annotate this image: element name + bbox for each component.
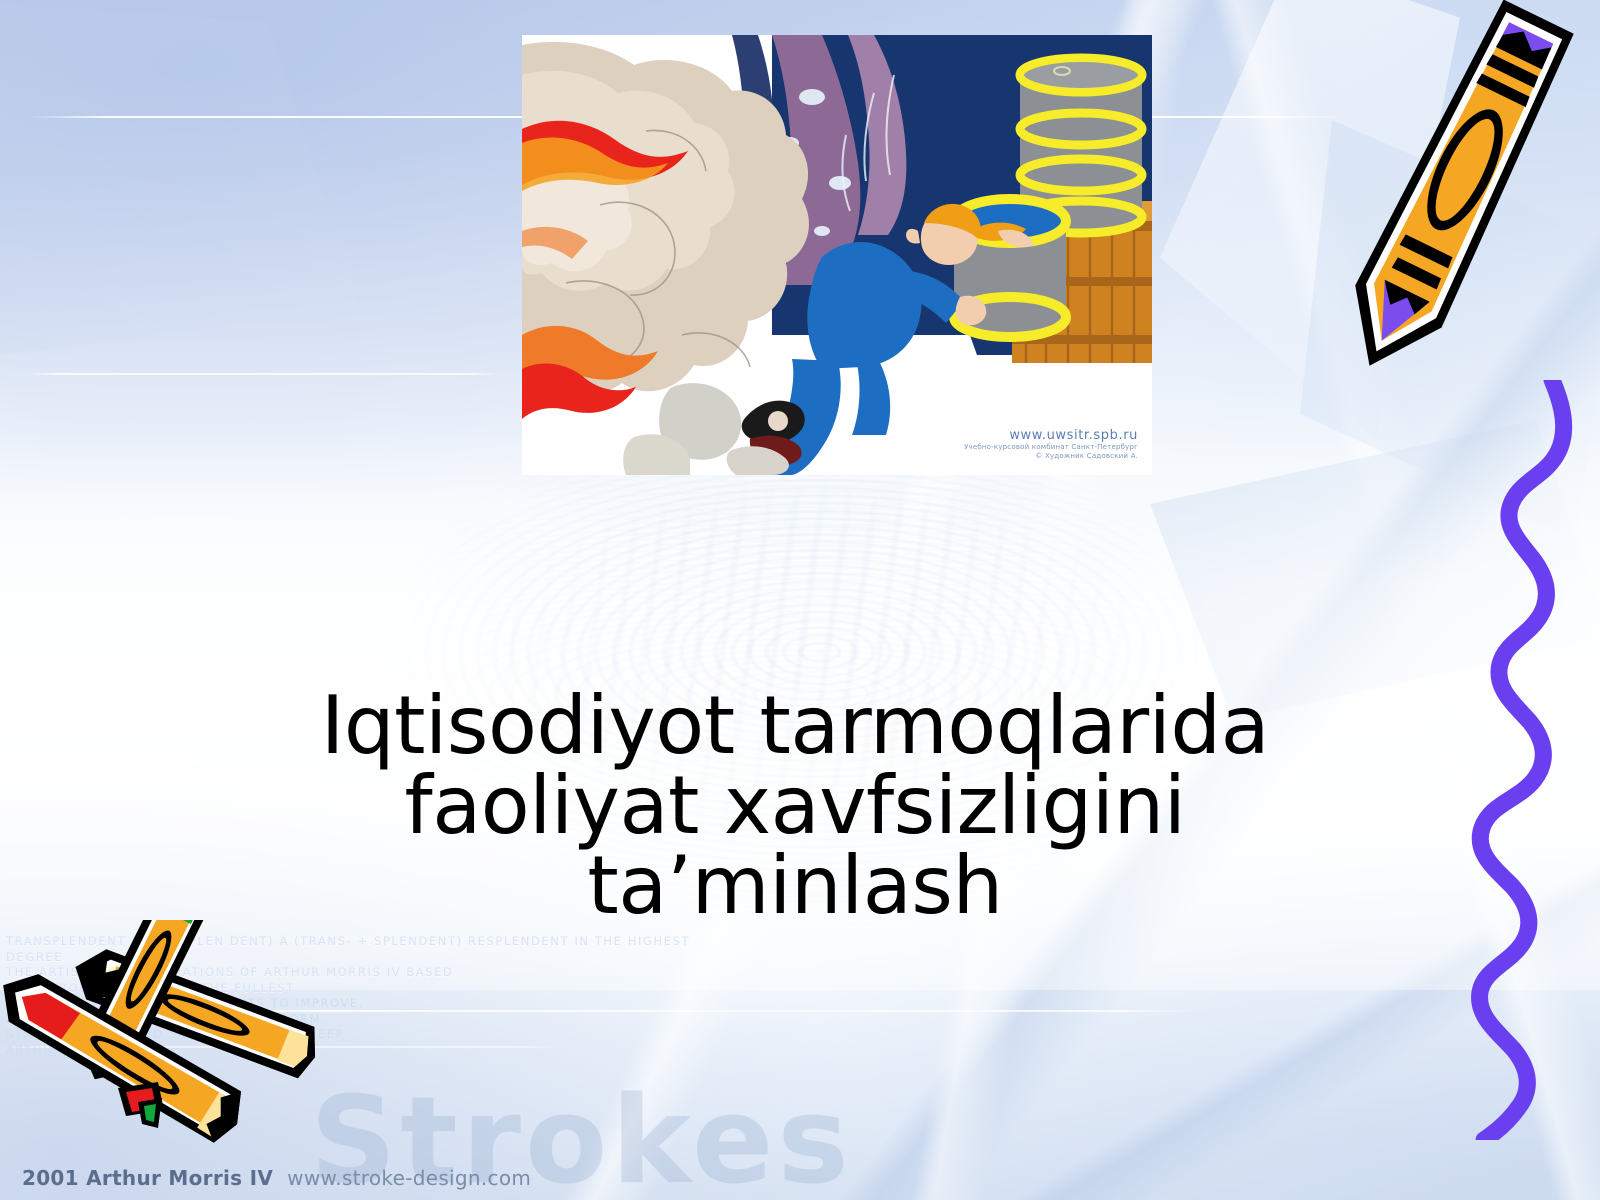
slide-picture[interactable]: www.uwsitr.spb.ru Учебно-курсовой комбин… bbox=[522, 35, 1152, 475]
template-ghost-paragraph-1: TRANSPLENDENT (TRAN SPLEN DENT) A (TRANS… bbox=[6, 934, 736, 996]
slide-title[interactable]: Iqtisodiyot tarmoqlarida faoliyat xavfsi… bbox=[150, 686, 1440, 926]
footer-website: www.stroke-design.com bbox=[287, 1166, 531, 1190]
template-ghost-paragraph-2: AN ARTIST WHO DRAWS AND PAINTS TO IMPROV… bbox=[6, 996, 606, 1058]
footer-copyright: 2001 Arthur Morris IV bbox=[22, 1166, 273, 1190]
template-rule-mid bbox=[28, 373, 498, 375]
picture-illustration bbox=[522, 35, 1152, 475]
template-footer: 2001 Arthur Morris IVwww.stroke-design.c… bbox=[22, 1166, 531, 1190]
presentation-slide: Strokes TRANSPLENDENT (TRAN SPLEN DENT) … bbox=[0, 0, 1600, 1200]
